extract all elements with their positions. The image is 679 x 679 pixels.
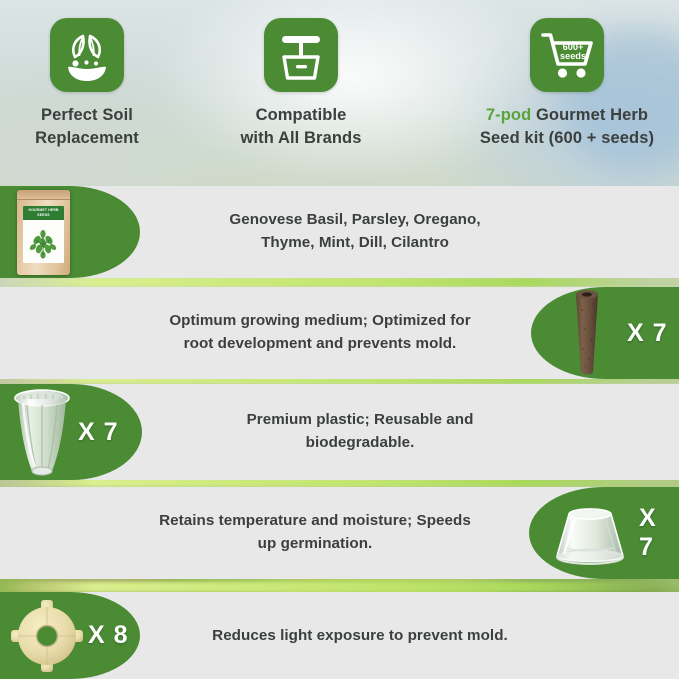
row-icon-pill: X 7	[531, 287, 679, 379]
row-icon-pill: X 7	[529, 487, 679, 579]
feature-label-line1: 7-pod Gourmet Herb	[467, 104, 667, 127]
infographic-page: Perfect Soil Replacement Compatibl	[0, 0, 679, 679]
grow-plug-icon	[565, 288, 609, 378]
row-icon-pill: X 7	[0, 384, 142, 480]
packet-label-line2: SEEDS	[37, 213, 50, 217]
quantity-label: X 7	[639, 504, 679, 562]
row-text: Premium plastic; Reusable and biodegrada…	[150, 408, 570, 454]
feature-label-line1: Perfect Soil	[12, 104, 162, 127]
row-text-line1: Reduces light exposure to prevent mold.	[140, 624, 580, 647]
feature-label: Perfect Soil Replacement	[12, 104, 162, 151]
row-text-line1: Optimum growing medium; Optimized for	[110, 309, 530, 332]
plastic-basket-icon	[10, 385, 74, 479]
feature-label-line1: Compatible	[226, 104, 376, 127]
row-text-line2: biodegradable.	[150, 431, 570, 454]
feature-row-seeds: GOURMET HERB SEEDS	[0, 186, 679, 278]
row-separator-4	[0, 582, 679, 592]
quantity-label: X 8	[88, 621, 129, 650]
row-separator-1	[0, 277, 679, 287]
quantity-label: X 7	[627, 319, 668, 348]
row-text-line2: up germination.	[105, 532, 525, 555]
feature-row-grow-plug: X 7 Optimum growing medium; Optimized fo…	[0, 287, 679, 379]
accent-text: 7-pod	[486, 106, 531, 124]
feature-seed-kit: 600+ seeds 7-pod Gourmet Herb Seed kit (…	[467, 18, 667, 151]
feature-label-line1-rest: Gourmet Herb	[531, 106, 648, 124]
humidity-dome-icon	[547, 504, 633, 570]
light-shield-disc-icon	[8, 597, 86, 675]
feature-header: Perfect Soil Replacement Compatibl	[0, 0, 679, 182]
cart-badge-line2: seeds	[560, 51, 586, 61]
row-text-line2: Thyme, Mint, Dill, Cilantro	[140, 231, 570, 254]
row-text-line1: Genovese Basil, Parsley, Oregano,	[140, 208, 570, 231]
feature-row-basket: X 7 Premium plastic; Reusable and biodeg…	[0, 384, 679, 480]
feature-label-line2: with All Brands	[226, 127, 376, 150]
feature-perfect-soil: Perfect Soil Replacement	[12, 18, 162, 151]
quantity-label: X 7	[78, 418, 119, 447]
seed-packet-icon: GOURMET HERB SEEDS	[17, 190, 70, 275]
grow-light-compatible-icon	[264, 18, 338, 92]
feature-row-dome: X 7 Retains temperature and moisture; Sp…	[0, 487, 679, 579]
feature-label: 7-pod Gourmet Herb Seed kit (600 + seeds…	[467, 104, 667, 151]
feature-label-line2: Seed kit (600 + seeds)	[467, 127, 667, 150]
row-text: Optimum growing medium; Optimized for ro…	[110, 309, 530, 355]
row-icon-pill: X 8	[0, 592, 140, 679]
row-icon-pill: GOURMET HERB SEEDS	[0, 186, 140, 278]
feature-row-light-shield: X 8 Reduces light exposure to prevent mo…	[0, 592, 679, 679]
shopping-cart-seeds-icon: 600+ seeds	[530, 18, 604, 92]
row-text-line1: Retains temperature and moisture; Speeds	[105, 509, 525, 532]
row-text-line2: root development and prevents mold.	[110, 332, 530, 355]
soil-leaves-icon	[50, 18, 124, 92]
row-text: Genovese Basil, Parsley, Oregano, Thyme,…	[140, 208, 570, 254]
feature-label: Compatible with All Brands	[226, 104, 376, 151]
row-text: Retains temperature and moisture; Speeds…	[105, 509, 525, 555]
row-text-line1: Premium plastic; Reusable and	[150, 408, 570, 431]
feature-label-line2: Replacement	[12, 127, 162, 150]
row-text: Reduces light exposure to prevent mold.	[140, 624, 580, 647]
feature-compatible-brands: Compatible with All Brands	[226, 18, 376, 151]
